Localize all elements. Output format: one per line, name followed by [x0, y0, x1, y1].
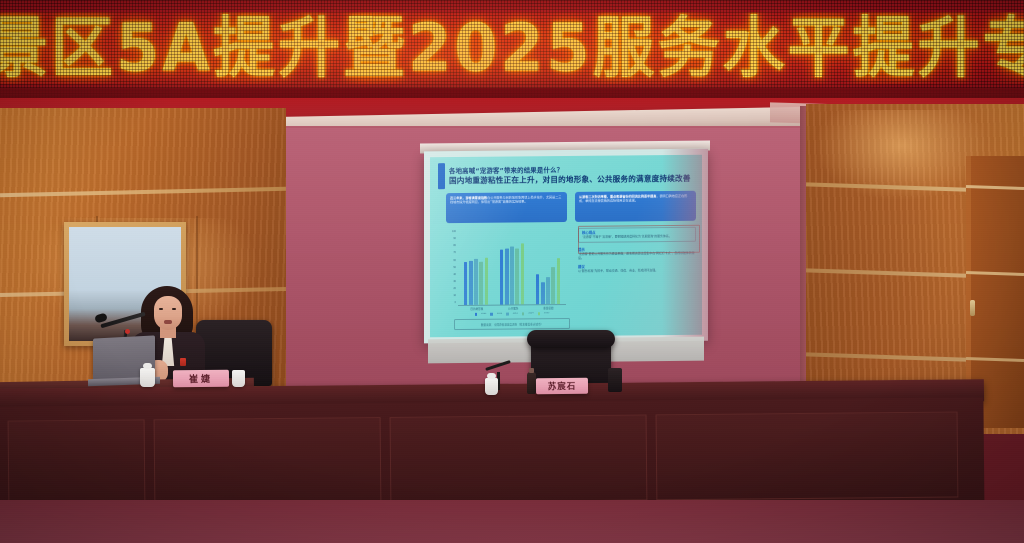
chart-bar — [546, 278, 550, 305]
chart-category-label: 重游意愿 — [543, 306, 553, 310]
paper-cup — [140, 368, 155, 387]
chart-bar — [510, 247, 514, 305]
nameplate-right-text: 苏宸石 — [548, 380, 577, 392]
chart-legend-label: 2023 — [513, 313, 518, 315]
nameplate-left: 崔婕 — [173, 370, 229, 387]
chart-legend-label: 2022 — [497, 313, 502, 315]
conference-room-photo: 景区5A提升暨2025服务水平提升专项培 — [0, 0, 1024, 543]
chart-y-tick: 90 — [453, 238, 456, 241]
chart-legend-label: 2024 — [528, 313, 533, 315]
bottle — [527, 372, 536, 394]
chart-source-note: 数据来源：全国游客满意度调查（样本覆盖重点城市） — [454, 318, 570, 330]
chart-bar — [541, 282, 545, 304]
nameplate-left-text: 崔婕 — [189, 372, 213, 385]
person-mouth — [164, 320, 172, 324]
slide-bar-chart: 1009080706050403020100 目的地形象公共服务重游意愿 202… — [442, 228, 570, 333]
slide-right-block: 建议 以“服务标准”为抓手，联动交通、住宿、商业，形成闭环治理。 — [578, 264, 696, 274]
chart-legend-swatch — [522, 312, 525, 315]
slide-right-body: “宠游客”不等于“宠流量”，要把短期热度转化为“长期复购”的服务体系。 — [582, 235, 692, 240]
chart-y-tick: 40 — [453, 274, 456, 277]
stage-floor — [0, 500, 1024, 543]
chart-bar — [505, 248, 509, 304]
person-lapel-badge — [180, 358, 186, 366]
chart-bar — [500, 250, 504, 305]
chart-legend-label: 2025 — [544, 312, 549, 314]
chart-bar — [515, 248, 519, 304]
chart-bar — [469, 261, 473, 305]
chart-plot-area — [458, 230, 566, 306]
chart-y-tick: 50 — [453, 267, 456, 270]
chart-category-labels: 目的地形象公共服务重游意愿 — [458, 306, 566, 311]
chart-bar — [479, 262, 483, 305]
chart-y-tick: 30 — [453, 281, 456, 284]
nameplate-right: 苏宸石 — [536, 378, 588, 394]
slide-title-line2: 国内地重游粘性正在上升，对目的地形象、公共服务的满意度持续改善 — [449, 173, 698, 184]
led-banner: 景区5A提升暨2025服务水平提升专项培 — [0, 0, 1024, 100]
chart-bar — [557, 258, 561, 304]
slide-accent-bar — [438, 163, 445, 189]
chart-y-tick: 80 — [453, 245, 456, 248]
chart-y-tick: 100 — [452, 231, 456, 234]
door-handle[interactable] — [970, 300, 975, 316]
chart-bar — [536, 275, 540, 305]
chart-bar — [551, 267, 555, 304]
chair-headrest — [527, 330, 615, 348]
slide-right-body: 以“服务标准”为抓手，联动交通、住宿、商业，形成闭环治理。 — [578, 269, 696, 274]
table-panel — [8, 419, 146, 506]
led-banner-text: 景区5A提升暨2025服务水平提升专项培 — [0, 12, 1024, 84]
led-banner-strip: 景区5A提升暨2025服务水平提升专项培 — [0, 12, 1024, 84]
paper-cup — [485, 378, 498, 395]
chart-bar — [464, 262, 468, 305]
slide-right-block: 提示 “宠游客”要把公共服务作为底盘来做，避免把资源过度集中在“网红打卡点”，忽… — [578, 247, 696, 261]
chart-y-tick: 0 — [455, 302, 456, 305]
person-eye-left — [159, 308, 163, 310]
slide-right-body: “宠游客”要把公共服务作为底盘来做，避免把资源过度集中在“网红打卡点”，忽视基础… — [578, 252, 696, 261]
slide-right-column: 核心观点 “宠游客”不等于“宠流量”，要把短期热度转化为“长期复购”的服务体系。… — [578, 227, 696, 332]
presentation-slide: 各地高喊“宠游客”带来的结果是什么？ 国内地重游粘性正在上升，对目的地形象、公共… — [430, 155, 702, 338]
projection-screen: 各地高喊“宠游客”带来的结果是什么？ 国内地重游粘性正在上升，对目的地形象、公共… — [424, 149, 708, 344]
slide-callout-boxes: 近三年来，游客满意度指数在公共服务与目的地形象两项上稳步抬升，尤其是二三线城市提… — [446, 191, 696, 223]
chart-category-label: 目的地形象 — [470, 307, 483, 311]
microphone-indicator-light — [125, 329, 130, 334]
chart-y-tick: 60 — [453, 260, 456, 263]
slide-callout-box: 近三年来，游客满意度指数在公共服务与目的地形象两项上稳步抬升，尤其是二三线城市提… — [446, 192, 567, 223]
slide-header: 各地高喊“宠游客”带来的结果是什么？ 国内地重游粘性正在上升，对目的地形象、公共… — [438, 161, 698, 189]
chart-y-axis-ticks: 1009080706050403020100 — [442, 231, 456, 305]
chart-y-tick: 10 — [453, 295, 456, 298]
person-eye-right — [172, 308, 176, 310]
table-panel — [390, 414, 648, 502]
chart-y-tick: 20 — [453, 288, 456, 291]
chart-bar — [485, 257, 489, 304]
chart-legend-swatch — [506, 313, 509, 316]
bottle-cap — [529, 368, 534, 373]
chart-y-tick: 70 — [453, 252, 456, 255]
paper-cup — [232, 370, 245, 387]
paper-cup-lid — [143, 363, 152, 369]
chart-legend: 20212022202320242025 — [460, 312, 564, 316]
person-face — [154, 296, 182, 330]
table-panel — [154, 417, 382, 505]
slide-callout-box: 从游客二次到访率看，重点客源省份的回流比例逐年提高，表明口碑效应正在形成，单纯靠… — [575, 191, 696, 222]
chart-bar — [474, 259, 478, 305]
chart-bar-group — [536, 230, 560, 304]
slide-right-block: 核心观点 “宠游客”不等于“宠流量”，要把短期热度转化为“长期复购”的服务体系。 — [578, 227, 696, 243]
chart-legend-swatch — [490, 313, 493, 316]
chart-bar-group — [464, 231, 488, 305]
paper-cup-lid — [487, 373, 496, 379]
chart-category-label: 公共服务 — [508, 306, 518, 310]
desk-device — [608, 368, 622, 392]
chart-bar-group — [500, 230, 524, 304]
table-panel — [656, 412, 959, 501]
chart-legend-label: 2021 — [481, 313, 486, 315]
chart-bar — [521, 244, 525, 305]
chart-legend-swatch — [538, 312, 541, 315]
chart-legend-swatch — [475, 313, 478, 316]
